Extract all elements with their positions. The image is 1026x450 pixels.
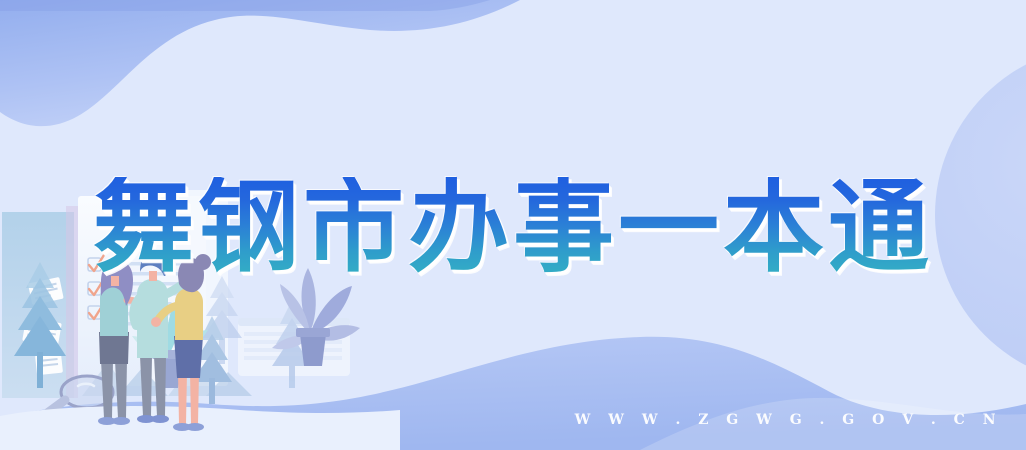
office-people-illustration [0, 0, 1026, 450]
left-board-edge [66, 206, 78, 398]
site-url-watermark: W W W . Z G W G . G O V . C N [575, 412, 1002, 428]
page-banner: 舞钢市办事一本通 舞钢市办事一本通 W W W . Z G W G . G O … [0, 0, 1026, 450]
